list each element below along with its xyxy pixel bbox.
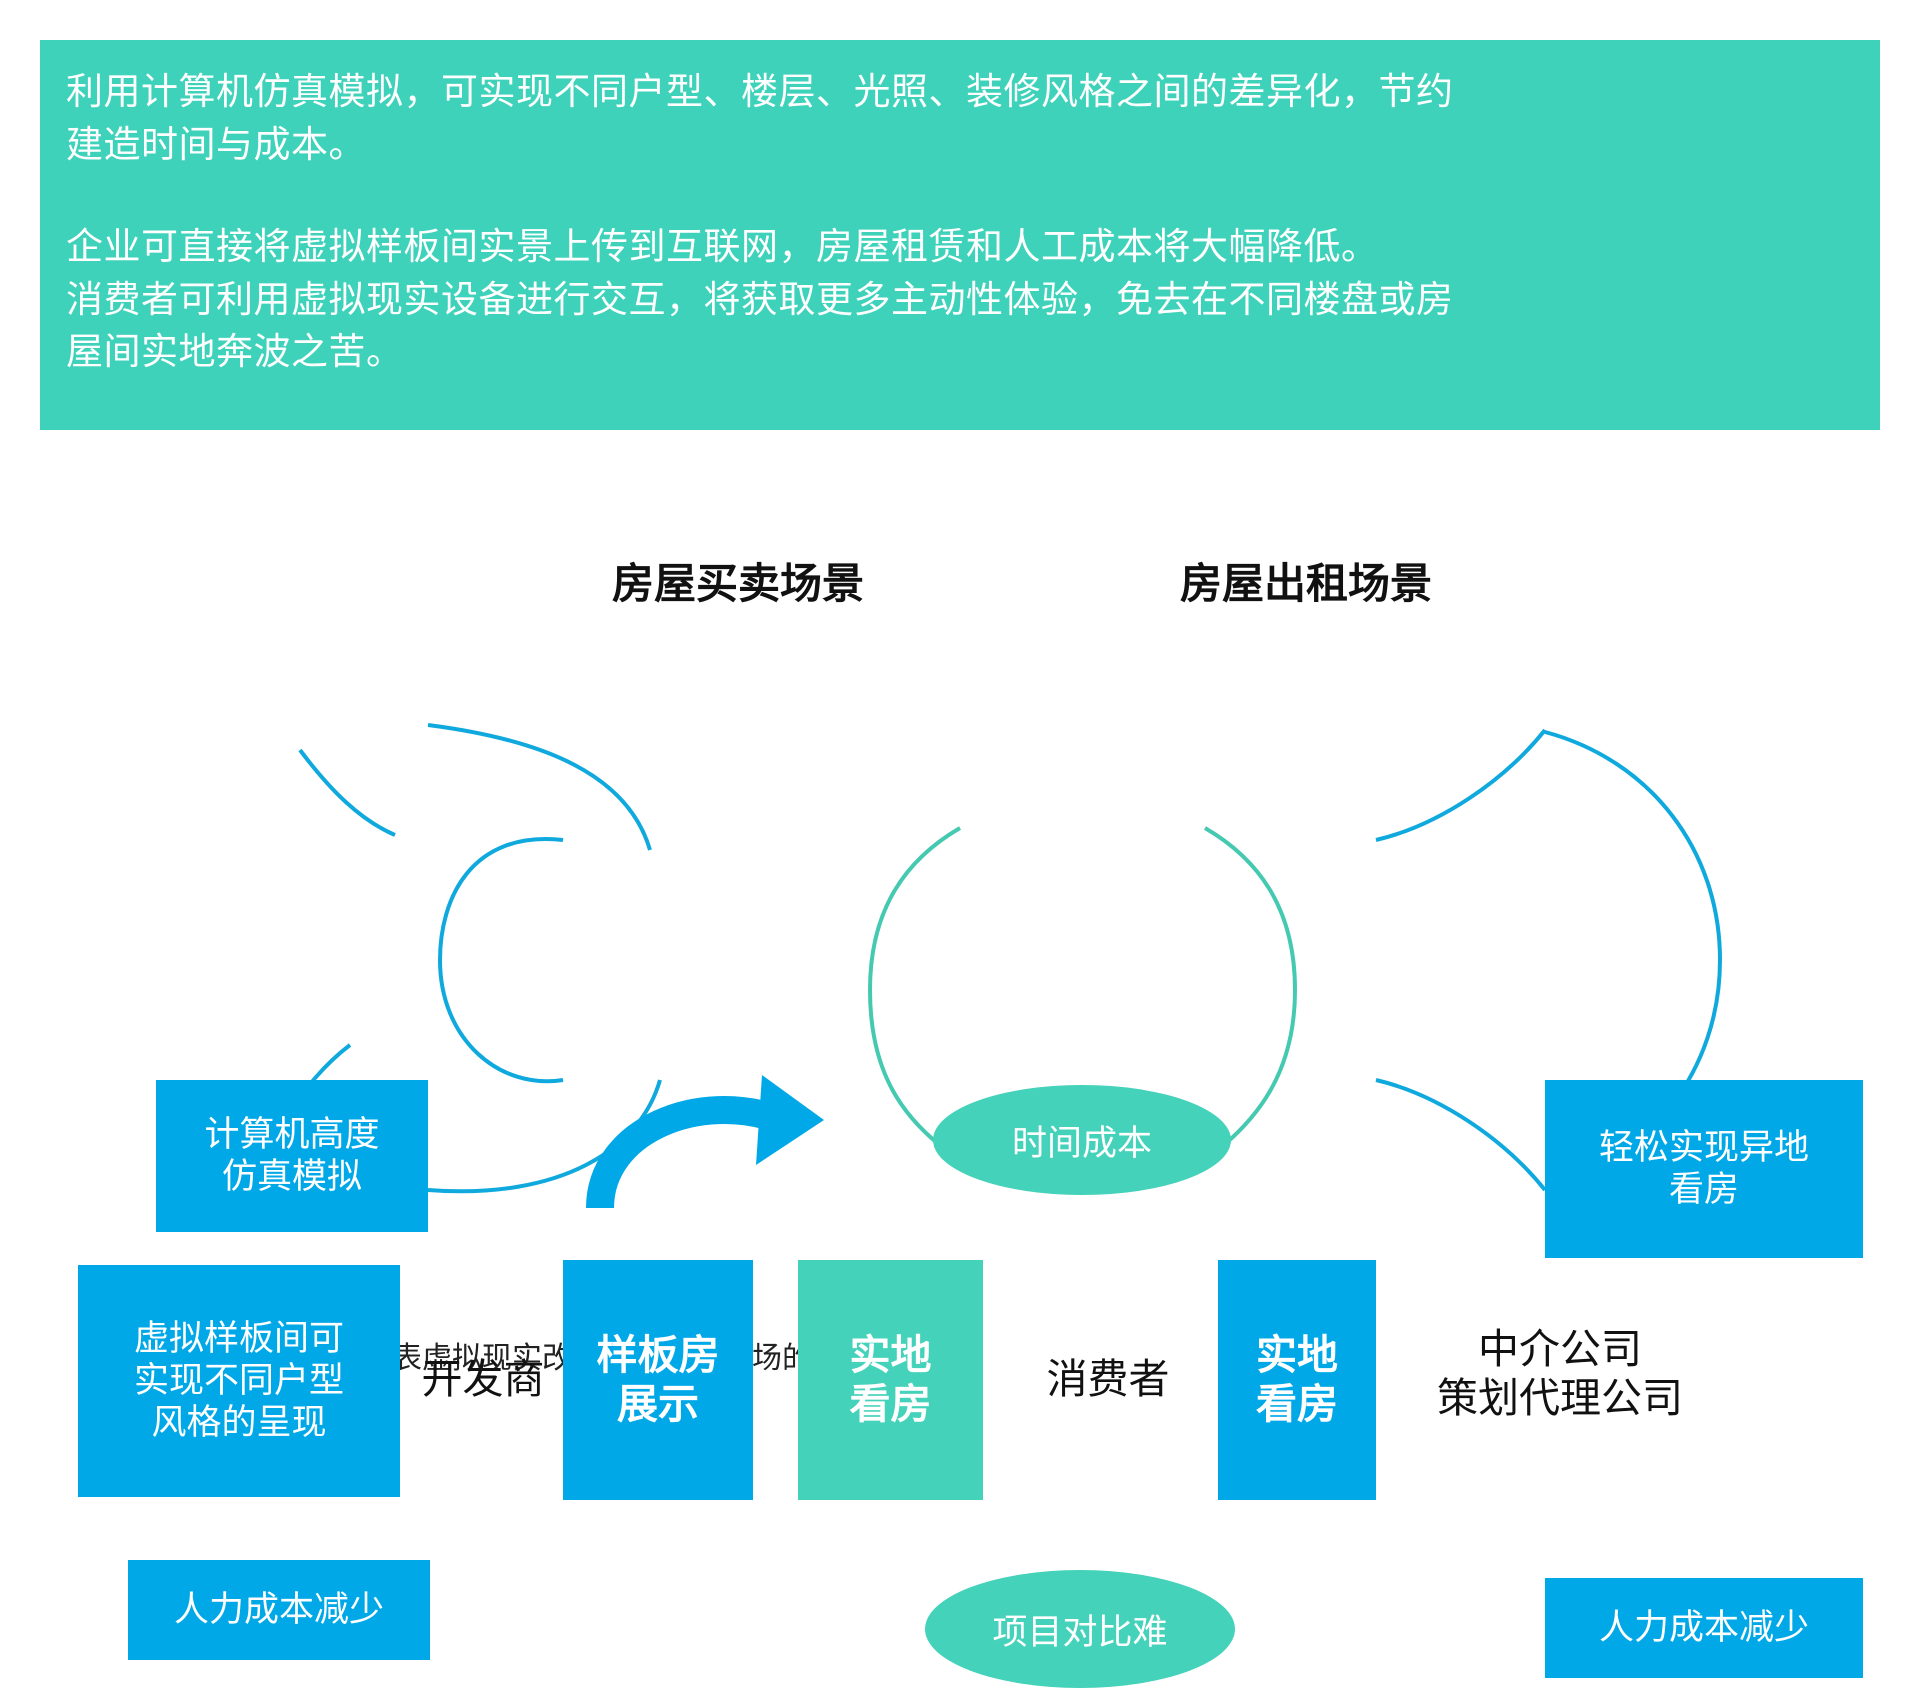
- node-virtual-showroom[interactable]: 虚拟样板间可 实现不同户型 风格的呈现: [78, 1265, 400, 1497]
- node-labor-cost-left[interactable]: 人力成本减少: [128, 1560, 430, 1660]
- header-banner: 利用计算机仿真模拟，可实现不同户型、楼层、光照、装修风格之间的差异化，节约 建造…: [40, 40, 1880, 430]
- header-spacer: [66, 185, 1850, 221]
- node-project-compare-difficulty[interactable]: 项目对比难: [925, 1570, 1235, 1688]
- section-title-sale-scene: 房屋买卖场景: [612, 550, 864, 611]
- node-model-room-display[interactable]: 样板房 展示: [563, 1260, 753, 1500]
- hub-label-developer: 开发商: [408, 1355, 558, 1404]
- node-labor-cost-right[interactable]: 人力成本减少: [1545, 1578, 1863, 1678]
- header-paragraph-1: 利用计算机仿真模拟，可实现不同户型、楼层、光照、装修风格之间的差异化，节约 建造…: [66, 66, 1850, 171]
- node-onsite-visit-right[interactable]: 实地 看房: [1218, 1260, 1376, 1500]
- node-onsite-visit-middle[interactable]: 实地 看房: [798, 1260, 983, 1500]
- header-paragraph-2: 企业可直接将虚拟样板间实景上传到互联网，房屋租赁和人工成本将大幅降低。 消费者可…: [66, 221, 1850, 379]
- node-computer-simulation[interactable]: 计算机高度 仿真模拟: [156, 1080, 428, 1232]
- node-remote-viewing[interactable]: 轻松实现异地 看房: [1545, 1080, 1863, 1258]
- hub-label-agency: 中介公司 策划代理公司: [1400, 1325, 1720, 1423]
- diagram-area: 房屋买卖场景 房屋出租场景 计算机高度 仿真模拟 虚拟样板间可 实现不同户型 风…: [0, 430, 1920, 1310]
- hub-label-consumer: 消费者: [1018, 1355, 1198, 1404]
- section-title-rent-scene: 房屋出租场景: [1180, 550, 1432, 611]
- node-time-cost[interactable]: 时间成本: [933, 1085, 1231, 1195]
